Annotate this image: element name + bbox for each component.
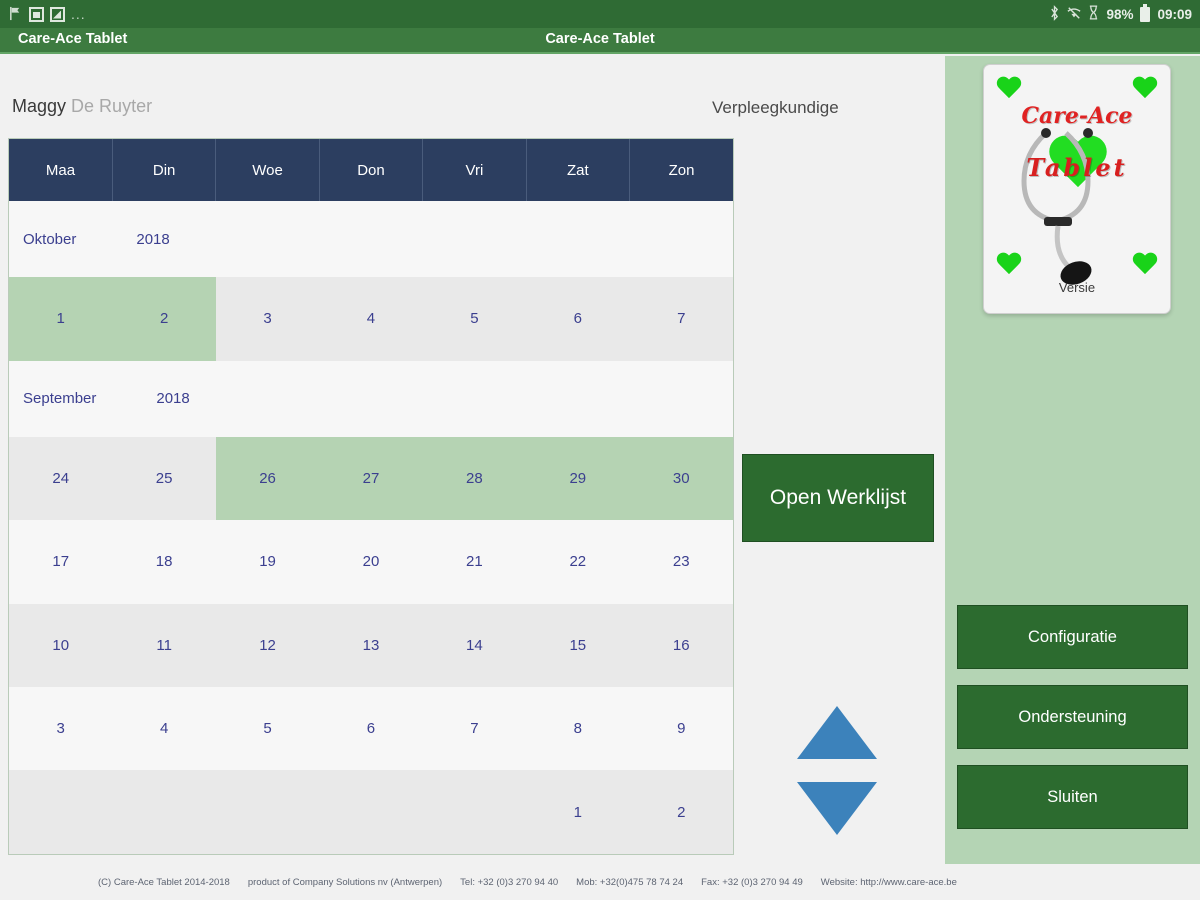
calendar-week-row: 17181920212223: [9, 520, 733, 603]
battery-percent-label: 98%: [1106, 7, 1133, 22]
scroll-arrows: [793, 706, 881, 886]
calendar-day-cell[interactable]: 17: [9, 520, 112, 603]
calendar-week-row: 10111213141516: [9, 604, 733, 687]
main-panel: Maggy De Ruyter Verpleegkundige Maa Din …: [0, 56, 945, 864]
calendar-table: Maa Din Woe Don Vri Zat Zon Oktober20181…: [9, 139, 733, 854]
clock-label: 09:09: [1157, 7, 1192, 22]
calendar-day-cell[interactable]: 11: [112, 604, 215, 687]
logo-word-top: Care-Ace: [984, 103, 1170, 129]
month-label: September2018: [9, 390, 733, 407]
calendar-month-row: September2018: [9, 361, 733, 437]
calendar-day-cell[interactable]: 18: [112, 520, 215, 603]
day-header-zon: Zon: [630, 139, 733, 201]
calendar-empty-cell: [216, 770, 319, 854]
calendar-day-cell[interactable]: 1: [9, 277, 112, 360]
footer: (C) Care-Ace Tablet 2014-2018 product of…: [0, 864, 1200, 900]
calendar-day-cell[interactable]: 24: [9, 437, 112, 520]
image-icon: [50, 7, 65, 22]
user-name: Maggy De Ruyter: [12, 96, 152, 117]
page-title: Care-Ace Tablet: [0, 31, 1200, 47]
month-name: September: [23, 390, 96, 407]
day-header-din: Din: [112, 139, 215, 201]
hourglass-icon: [1088, 5, 1099, 23]
calendar-week-row: 12: [9, 770, 733, 854]
user-last-name: De Ruyter: [71, 96, 152, 116]
wifi-off-icon: [1067, 6, 1081, 23]
calendar-body: Oktober20181234567September2018242526272…: [9, 201, 733, 854]
month-header-cell: September2018: [9, 361, 733, 437]
calendar-head: Maa Din Woe Don Vri Zat Zon: [9, 139, 733, 201]
calendar-week-row: 24252627282930: [9, 437, 733, 520]
calendar-day-cell[interactable]: 13: [319, 604, 422, 687]
calendar-day-cell[interactable]: 27: [319, 437, 422, 520]
calendar-day-cell[interactable]: 3: [216, 277, 319, 360]
logo-card: Care-Ace Tablet Versie: [983, 64, 1171, 314]
day-header-woe: Woe: [216, 139, 319, 201]
calendar-day-cell[interactable]: 12: [216, 604, 319, 687]
calendar-day-cell[interactable]: 9: [630, 687, 733, 770]
calendar-day-cell[interactable]: 30: [630, 437, 733, 520]
day-header-zat: Zat: [526, 139, 629, 201]
more-dots-icon: ...: [71, 6, 86, 22]
calendar-day-cell[interactable]: 14: [423, 604, 526, 687]
calendar-day-cell[interactable]: 28: [423, 437, 526, 520]
month-name: Oktober: [23, 231, 76, 248]
calendar-day-cell[interactable]: 16: [630, 604, 733, 687]
sluiten-button[interactable]: Sluiten: [957, 765, 1188, 829]
month-year: 2018: [96, 390, 189, 407]
calendar-day-cell[interactable]: 23: [630, 520, 733, 603]
footer-product: product of Company Solutions nv (Antwerp…: [248, 877, 442, 888]
side-panel: Care-Ace Tablet Versie Configuratie Onde…: [945, 56, 1200, 864]
calendar-day-cell[interactable]: 1: [526, 770, 629, 854]
status-bar-right-icons: 98% 09:09: [1049, 5, 1192, 24]
calendar-week-row: 3456789: [9, 687, 733, 770]
calendar-empty-cell: [423, 770, 526, 854]
day-header-don: Don: [319, 139, 422, 201]
status-bar-left-icons: ...: [8, 6, 86, 23]
app-title-bar: Care-Ace Tablet Care-Ace Tablet: [0, 28, 1200, 54]
calendar-empty-cell: [112, 770, 215, 854]
calendar-day-cell[interactable]: 8: [526, 687, 629, 770]
calendar-day-cell[interactable]: 22: [526, 520, 629, 603]
footer-copyright: (C) Care-Ace Tablet 2014-2018: [98, 877, 230, 888]
footer-fax: Fax: +32 (0)3 270 94 49: [701, 877, 803, 888]
footer-tel: Tel: +32 (0)3 270 94 40: [460, 877, 558, 888]
month-header-cell: Oktober2018: [9, 201, 733, 277]
calendar-day-cell[interactable]: 15: [526, 604, 629, 687]
triangle-up-icon[interactable]: [797, 706, 877, 759]
calendar-day-cell[interactable]: 5: [423, 277, 526, 360]
battery-icon: [1140, 7, 1150, 22]
calendar-day-cell[interactable]: 6: [526, 277, 629, 360]
calendar-day-cell[interactable]: 29: [526, 437, 629, 520]
calendar-empty-cell: [319, 770, 422, 854]
day-header-vri: Vri: [423, 139, 526, 201]
logo-word-bottom: Tablet: [984, 153, 1170, 182]
calendar[interactable]: Maa Din Woe Don Vri Zat Zon Oktober20181…: [8, 138, 734, 855]
calendar-day-cell[interactable]: 7: [630, 277, 733, 360]
user-first-name: Maggy: [12, 96, 66, 116]
calendar-week-row: 1234567: [9, 277, 733, 360]
calendar-day-cell[interactable]: 25: [112, 437, 215, 520]
calendar-day-cell[interactable]: 2: [630, 770, 733, 854]
flag-icon: [8, 6, 23, 23]
footer-website[interactable]: Website: http://www.care-ace.be: [821, 877, 957, 888]
calendar-day-cell[interactable]: 7: [423, 687, 526, 770]
triangle-down-icon[interactable]: [797, 782, 877, 835]
calendar-day-cell[interactable]: 5: [216, 687, 319, 770]
month-year: 2018: [76, 231, 169, 248]
configuratie-button[interactable]: Configuratie: [957, 605, 1188, 669]
calendar-day-cell[interactable]: 2: [112, 277, 215, 360]
calendar-day-cell[interactable]: 6: [319, 687, 422, 770]
day-header-maa: Maa: [9, 139, 112, 201]
calendar-day-cell[interactable]: 19: [216, 520, 319, 603]
user-role-label: Verpleegkundige: [712, 98, 839, 118]
ondersteuning-button[interactable]: Ondersteuning: [957, 685, 1188, 749]
content-area: Maggy De Ruyter Verpleegkundige Maa Din …: [0, 56, 1200, 864]
calendar-day-cell[interactable]: 4: [319, 277, 422, 360]
calendar-month-row: Oktober2018: [9, 201, 733, 277]
month-label: Oktober2018: [9, 231, 733, 248]
calendar-empty-cell: [9, 770, 112, 854]
calendar-day-cell[interactable]: 20: [319, 520, 422, 603]
calendar-day-cell[interactable]: 4: [112, 687, 215, 770]
calendar-day-cell[interactable]: 26: [216, 437, 319, 520]
open-worklist-button[interactable]: Open Werklijst: [742, 454, 934, 542]
bluetooth-icon: [1049, 5, 1060, 24]
image-icon: [29, 7, 44, 22]
calendar-day-cell[interactable]: 21: [423, 520, 526, 603]
calendar-header-row: Maa Din Woe Don Vri Zat Zon: [9, 139, 733, 201]
app-window: ... 98% 09:09 Care-Ace Tablet Care-Ace T…: [0, 0, 1200, 900]
calendar-day-cell[interactable]: 10: [9, 604, 112, 687]
footer-mob: Mob: +32(0)475 78 74 24: [576, 877, 683, 888]
android-status-bar: ... 98% 09:09: [0, 0, 1200, 28]
logo-version-label: Versie: [984, 280, 1170, 295]
calendar-day-cell[interactable]: 3: [9, 687, 112, 770]
